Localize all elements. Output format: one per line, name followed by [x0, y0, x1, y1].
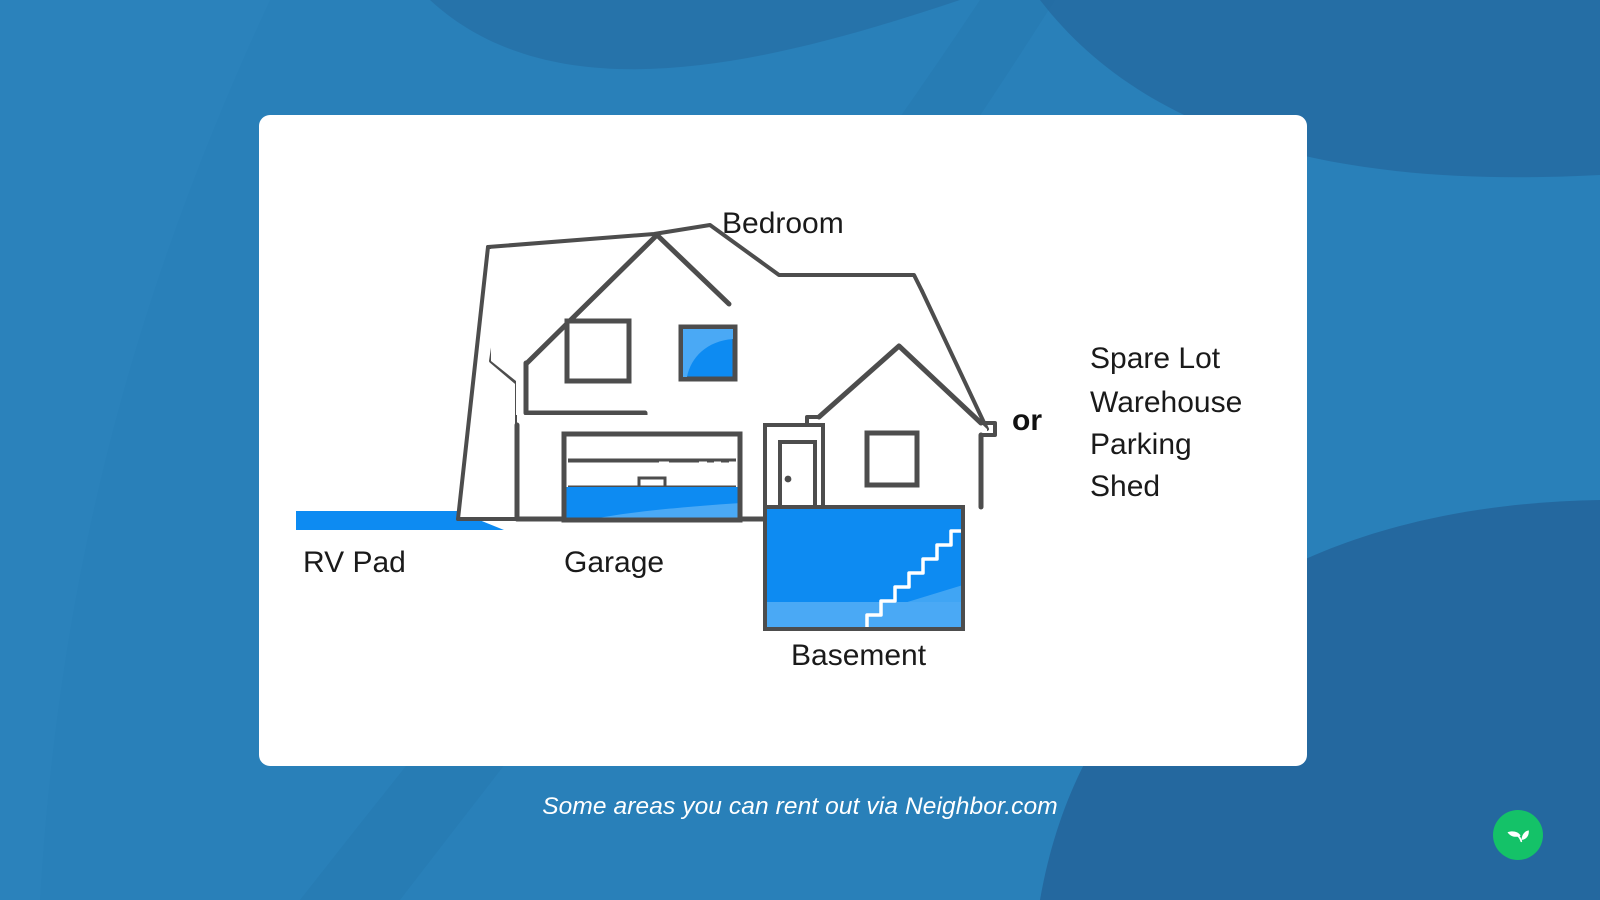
- alt-item-parking: Parking: [1090, 428, 1192, 461]
- neighbor-leaf-logo-badge[interactable]: [1493, 810, 1543, 860]
- alt-item-shed: Shed: [1090, 470, 1160, 503]
- wing-window: [867, 433, 917, 485]
- garage-opening: [564, 434, 740, 520]
- or-connector-label: or: [1012, 404, 1042, 437]
- label-garage: Garage: [564, 546, 664, 579]
- bedroom-window: [681, 327, 735, 379]
- door-knob-icon: [785, 476, 792, 483]
- label-bedroom: Bedroom: [722, 207, 844, 240]
- house-diagram: Bedroom RV Pad Garage Basement or Spare …: [259, 115, 1307, 766]
- label-rv-pad: RV Pad: [303, 546, 406, 579]
- leaf-icon-stem: [1518, 836, 1521, 842]
- screenshot-root: Bedroom RV Pad Garage Basement or Spare …: [0, 0, 1600, 900]
- front-door: [765, 425, 823, 509]
- upper-window-plain: [567, 321, 629, 381]
- garage-floor: [564, 487, 740, 520]
- label-basement: Basement: [791, 639, 927, 672]
- leaf-icon-right: [1522, 830, 1529, 840]
- basement-room: [765, 507, 963, 629]
- caption-text: Some areas you can rent out via Neighbor…: [0, 793, 1600, 821]
- house-group: Bedroom RV Pad Garage Basement or Spare …: [296, 207, 1242, 672]
- door-panel: [780, 442, 815, 509]
- alt-item-warehouse: Warehouse: [1090, 386, 1242, 419]
- alt-item-spare-lot: Spare Lot: [1090, 342, 1221, 375]
- leaf-icon: [1502, 819, 1534, 851]
- illustration-card: Bedroom RV Pad Garage Basement or Spare …: [259, 115, 1307, 766]
- garage-handle: [639, 478, 665, 487]
